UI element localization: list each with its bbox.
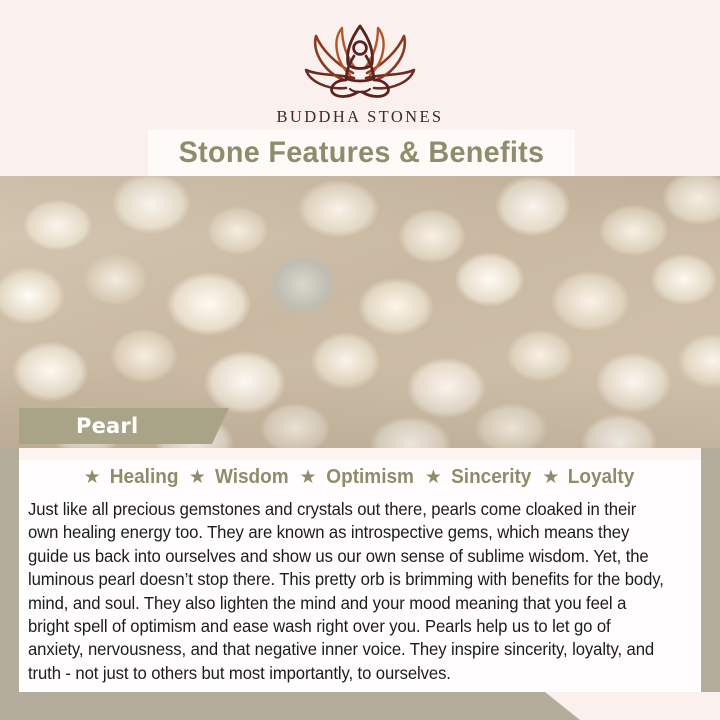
keyword-item: ★ Loyalty [542,466,636,489]
pearl-photo [0,176,720,448]
keyword-label: Healing [109,466,178,489]
content-top-strip [19,448,701,460]
section-title-banner: Stone Features & Benefits [148,130,575,176]
star-icon: ★ [300,468,317,487]
content-panel: ★ Healing ★ Wisdom ★ Optimism ★ Sincerit… [19,448,701,692]
stone-name-label: Pearl [76,414,138,438]
keyword-item: ★ Optimism [300,466,416,489]
keyword-list: ★ Healing ★ Wisdom ★ Optimism ★ Sincerit… [19,466,701,489]
brand-logo: BUDDHA STONES [0,18,720,127]
keyword-label: Wisdom [215,466,289,489]
stone-info-card: BUDDHA STONES Stone Features & Benefits … [0,0,720,720]
keyword-label: Loyalty [568,466,635,489]
keyword-item: ★ Sincerity [425,466,534,489]
star-icon: ★ [425,468,442,487]
brand-name: BUDDHA STONES [0,107,720,127]
page-title: Stone Features & Benefits [179,136,545,170]
lotus-meditation-icon [280,18,440,104]
stone-name-banner: Pearl [19,408,229,444]
pearl-photo-texture [0,176,720,448]
frame-accent-right-notch [697,692,720,720]
star-icon: ★ [189,468,206,487]
frame-accent-left [0,437,19,720]
keyword-item: ★ Healing [84,466,180,489]
keyword-label: Optimism [326,466,414,489]
keyword-item: ★ Wisdom [189,466,291,489]
star-icon: ★ [84,468,101,487]
frame-accent-bottom [0,692,580,720]
star-icon: ★ [542,468,559,487]
keyword-label: Sincerity [451,466,531,489]
stone-description: Just like all precious gemstones and cry… [28,498,670,685]
